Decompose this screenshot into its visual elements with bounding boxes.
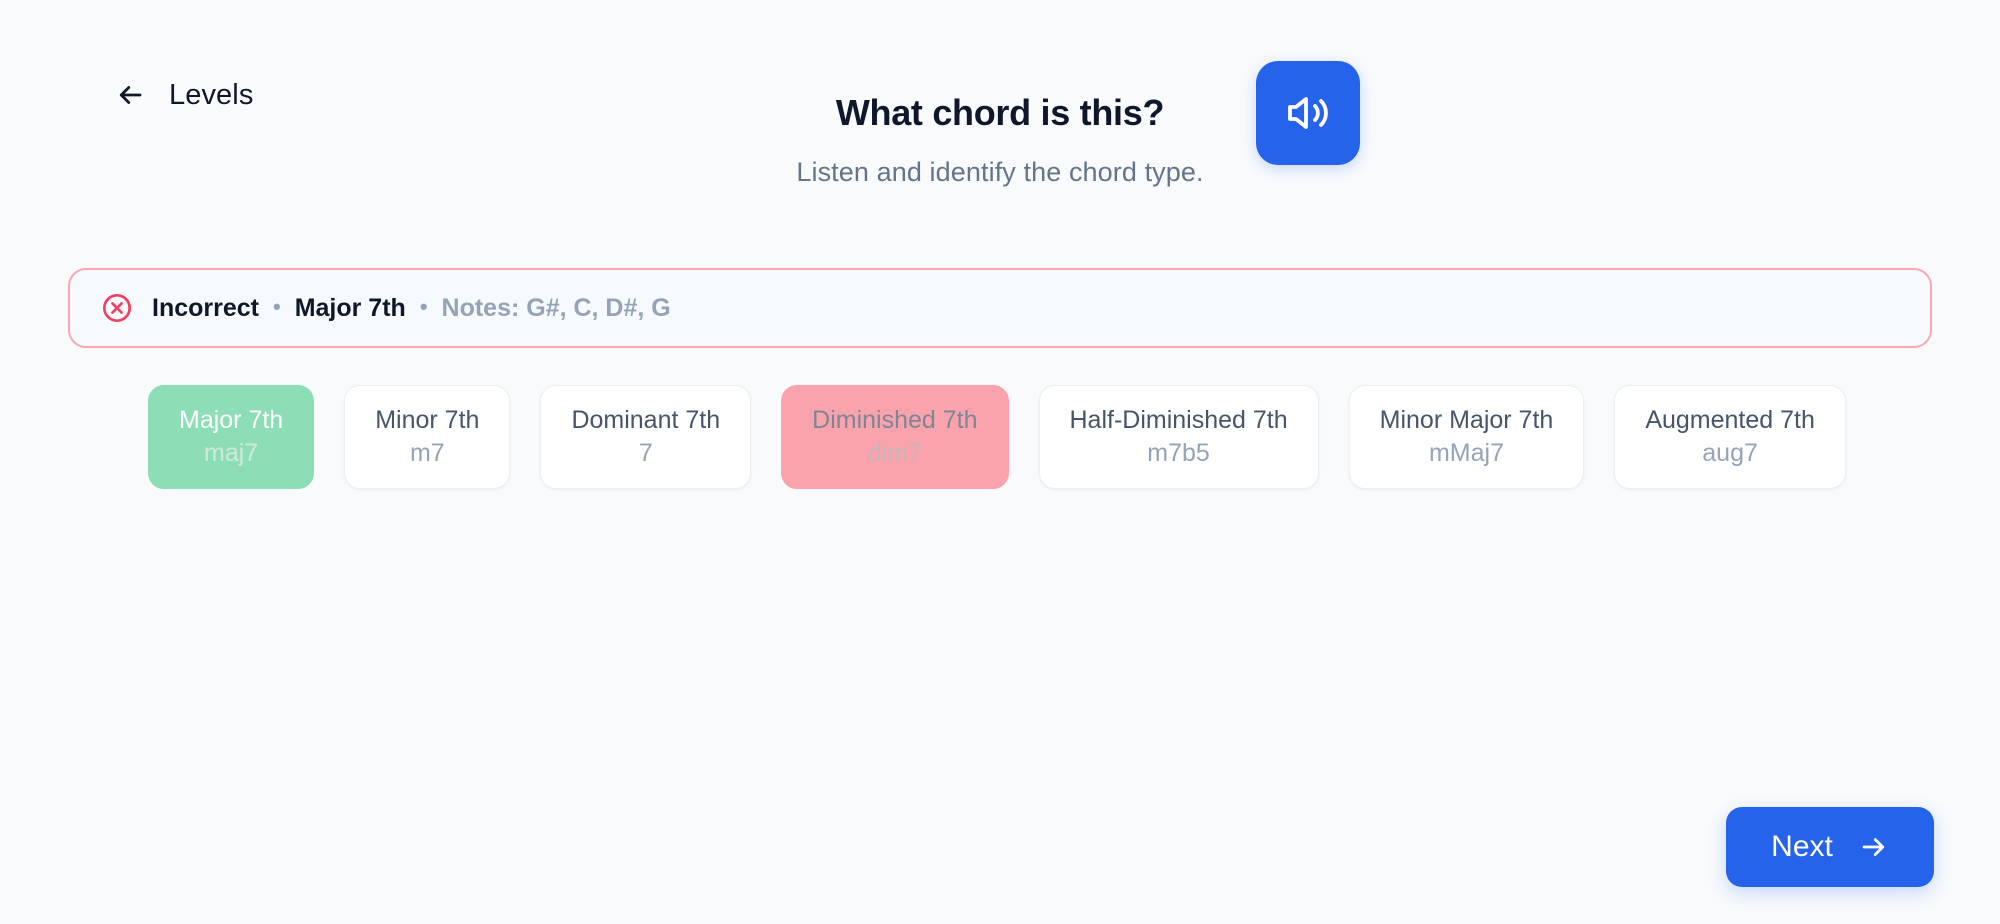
answer-option-name: Minor 7th xyxy=(375,407,479,435)
feedback-text: Incorrect • Major 7th • Notes: G#, C, D#… xyxy=(152,296,671,321)
play-chord-button[interactable] xyxy=(1256,61,1360,165)
quiz-header: What chord is this? Listen and identify … xyxy=(0,95,2000,188)
answer-option-symbol: m7 xyxy=(410,440,445,468)
feedback-notes: Notes: G#, C, D#, G xyxy=(442,296,671,321)
feedback-correct-answer: Major 7th xyxy=(295,296,406,321)
next-button-label: Next xyxy=(1771,832,1833,862)
feedback-banner: Incorrect • Major 7th • Notes: G#, C, D#… xyxy=(68,268,1932,348)
page-subtitle: Listen and identify the chord type. xyxy=(796,157,1203,188)
feedback-status: Incorrect xyxy=(152,296,259,321)
answer-option-symbol: mMaj7 xyxy=(1429,440,1504,468)
answer-options-grid: Major 7thmaj7Minor 7thm7Dominant 7th7Dim… xyxy=(148,385,1908,489)
feedback-separator-1: • xyxy=(273,296,281,318)
answer-option-name: Major 7th xyxy=(179,407,283,435)
answer-option[interactable]: Half-Diminished 7thm7b5 xyxy=(1039,385,1319,489)
answer-option-symbol: m7b5 xyxy=(1147,440,1210,468)
arrow-right-icon xyxy=(1859,832,1889,862)
answer-option-symbol: dim7 xyxy=(868,440,922,468)
answer-option[interactable]: Major 7thmaj7 xyxy=(148,385,314,489)
next-button[interactable]: Next xyxy=(1726,807,1934,887)
answer-option-symbol: maj7 xyxy=(204,440,258,468)
speaker-wave-icon xyxy=(1284,89,1332,137)
title-row: What chord is this? xyxy=(836,95,1164,131)
answer-option-name: Dominant 7th xyxy=(571,407,720,435)
answer-option[interactable]: Diminished 7thdim7 xyxy=(781,385,1008,489)
answer-option-name: Half-Diminished 7th xyxy=(1070,407,1288,435)
answer-option-symbol: 7 xyxy=(639,440,653,468)
quiz-screen: Levels What chord is this? Listen and id… xyxy=(0,0,2000,924)
answer-option-name: Augmented 7th xyxy=(1645,407,1815,435)
answer-option[interactable]: Minor 7thm7 xyxy=(344,385,510,489)
feedback-separator-2: • xyxy=(420,296,428,318)
circle-x-icon xyxy=(100,291,134,325)
answer-option-symbol: aug7 xyxy=(1702,440,1758,468)
page-title: What chord is this? xyxy=(836,95,1164,131)
answer-option[interactable]: Dominant 7th7 xyxy=(540,385,751,489)
answer-option-name: Diminished 7th xyxy=(812,407,977,435)
answer-option-name: Minor Major 7th xyxy=(1380,407,1554,435)
answer-option[interactable]: Minor Major 7thmMaj7 xyxy=(1349,385,1585,489)
answer-option[interactable]: Augmented 7thaug7 xyxy=(1614,385,1846,489)
